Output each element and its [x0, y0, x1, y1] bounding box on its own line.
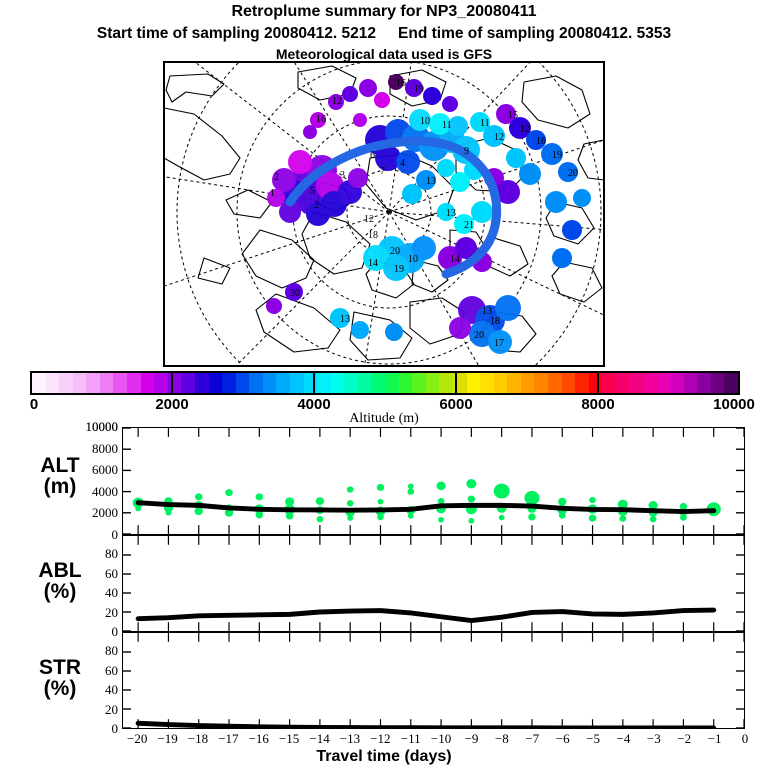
colorbar-separator [597, 371, 599, 395]
colorbar-swatch [602, 373, 616, 393]
svg-text:2: 2 [274, 172, 279, 183]
colorbar-swatch [263, 373, 277, 393]
colorbar-swatch [629, 373, 643, 393]
svg-text:12: 12 [520, 124, 530, 135]
alt-bubble [317, 516, 324, 522]
xtick-label: −6 [556, 731, 570, 747]
svg-text:14: 14 [368, 258, 378, 269]
xtick-label: −9 [465, 731, 479, 747]
alt-bubble [408, 484, 414, 489]
ytick-label: 20 [105, 605, 118, 621]
colorbar-swatch [412, 373, 426, 393]
retroplume-summary-figure: Retroplume summary for NP3_20080411 Star… [0, 0, 768, 768]
alt-bubble [499, 515, 505, 520]
colorbar-swatch [534, 373, 548, 393]
colorbar-swatch [371, 373, 385, 393]
svg-text:13: 13 [340, 314, 350, 325]
colorbar-swatch [657, 373, 671, 393]
abl-line [138, 610, 714, 620]
alt-bubble [377, 514, 384, 520]
colorbar-swatch [290, 373, 304, 393]
svg-text:16: 16 [536, 136, 546, 147]
svg-text:7: 7 [380, 166, 385, 177]
xtick-label: −2 [677, 731, 691, 747]
xtick-label: −10 [431, 731, 451, 747]
alt-panel [122, 427, 745, 535]
colorbar-swatch [697, 373, 711, 393]
ytick-label: 8000 [92, 441, 118, 457]
alt-bubble [286, 512, 294, 519]
xtick-label: −17 [218, 731, 238, 747]
colorbar-swatch [480, 373, 494, 393]
xtick-label: −15 [279, 731, 299, 747]
ytick-label: 20 [105, 702, 118, 718]
colorbar-swatch [643, 373, 657, 393]
retroplume-map: 2 1 5 2 3 6 7 4 12 16 16 19 12 18 14 10 [163, 61, 605, 367]
colorbar-swatch [467, 373, 481, 393]
colorbar-swatch [670, 373, 684, 393]
met-data-label: Meteorological data used is GFS [0, 46, 768, 62]
str-axis-label: STR (%) [6, 657, 114, 700]
abl-panel [122, 535, 745, 632]
xtick-label: −19 [157, 731, 177, 747]
alt-bubble [347, 486, 354, 492]
svg-text:19: 19 [394, 264, 404, 275]
svg-text:10: 10 [408, 254, 418, 265]
ytick-label: 80 [105, 643, 118, 659]
colorbar-swatch [684, 373, 698, 393]
svg-text:10: 10 [420, 116, 430, 127]
xaxis-tick-labels: −20−19−18−17−16−15−14−13−12−11−10−9−8−7−… [0, 731, 768, 749]
colorbar-swatch [249, 373, 263, 393]
alt-bubble [316, 497, 324, 505]
colorbar-swatch [494, 373, 508, 393]
alt-plot [123, 428, 744, 534]
colorbar-swatch [548, 373, 562, 393]
colorbar-swatch [589, 373, 603, 393]
alt-bubble [589, 515, 597, 522]
colorbar-swatch [562, 373, 576, 393]
colorbar-swatch [222, 373, 236, 393]
svg-text:16: 16 [396, 78, 406, 89]
colorbar-swatch [46, 373, 60, 393]
svg-text:1: 1 [270, 188, 275, 199]
xtick-label: −18 [188, 731, 208, 747]
colorbar-separator [313, 371, 315, 395]
alt-bubble [589, 497, 596, 503]
alt-bubble [166, 510, 172, 515]
alt-bubble [468, 518, 474, 523]
alt-bubble [195, 507, 203, 515]
colorbar-swatch [616, 373, 630, 393]
colorbar-swatch [181, 373, 195, 393]
svg-text:4: 4 [400, 158, 405, 169]
ytick-label: 40 [105, 682, 118, 698]
sampling-time-row: Start time of sampling 20080412. 5212End… [0, 25, 768, 43]
xtick-label: −5 [586, 731, 600, 747]
xtick-label: 0 [742, 731, 749, 747]
colorbar-swatch [100, 373, 114, 393]
xtick-label: −16 [249, 731, 269, 747]
colorbar-swatch [399, 373, 413, 393]
svg-text:15: 15 [508, 110, 518, 121]
colorbar-swatch [86, 373, 100, 393]
svg-text:14: 14 [450, 254, 460, 265]
xtick-label: −14 [309, 731, 329, 747]
alt-bubble [438, 517, 444, 522]
alt-bubble [135, 506, 141, 511]
alt-bubble [619, 515, 626, 521]
svg-text:30: 30 [290, 288, 300, 299]
colorbar-swatch [711, 373, 725, 393]
alt-bubble [407, 488, 414, 494]
svg-text:3: 3 [340, 170, 345, 181]
alt-bubble [494, 484, 510, 499]
colorbar-swatch [724, 373, 738, 393]
colorbar-swatch [331, 373, 345, 393]
colorbar-swatch [358, 373, 372, 393]
colorbar-swatch [127, 373, 141, 393]
end-time-label: End time of sampling 20080412. 5353 [398, 25, 671, 42]
svg-text:12: 12 [494, 132, 504, 143]
str-plot [123, 633, 744, 728]
colorbar-swatch [168, 373, 182, 393]
str-panel [122, 632, 745, 729]
svg-text:11: 11 [480, 118, 490, 129]
alt-bubble [524, 491, 539, 505]
colorbar-swatch [385, 373, 399, 393]
ytick-label: 60 [105, 663, 118, 679]
alt-bubble [347, 515, 353, 520]
start-time-label: Start time of sampling 20080412. 5212 [97, 25, 376, 42]
svg-text:21: 21 [464, 220, 474, 231]
alt-bubble [466, 479, 476, 488]
colorbar-swatch [344, 373, 358, 393]
colorbar-swatch [32, 373, 46, 393]
svg-text:17: 17 [494, 338, 504, 349]
alt-bubble [558, 498, 566, 506]
ytick-label: 10000 [86, 419, 119, 435]
svg-text:18: 18 [490, 316, 500, 327]
map-canvas: 2 1 5 2 3 6 7 4 12 16 16 19 12 18 14 10 [164, 62, 604, 366]
colorbar-swatch [439, 373, 453, 393]
svg-text:19: 19 [552, 150, 562, 161]
ytick-label: 2000 [92, 505, 118, 521]
ytick-label: 40 [105, 585, 118, 601]
alt-bubble [347, 500, 354, 506]
alt-bubble [559, 512, 566, 518]
svg-text:2: 2 [314, 200, 319, 211]
xtick-label: −7 [525, 731, 539, 747]
xaxis-title: Travel time (days) [0, 748, 768, 766]
alt-bubble [408, 513, 414, 518]
colorbar-swatch [195, 373, 209, 393]
alt-bubble [680, 514, 687, 520]
colorbar-swatch [426, 373, 440, 393]
xtick-label: −20 [127, 731, 147, 747]
ytick-label: 6000 [92, 462, 118, 478]
abl-plot [123, 536, 744, 631]
colorbar-swatch [73, 373, 87, 393]
svg-text:20: 20 [474, 330, 484, 341]
svg-text:20: 20 [568, 168, 578, 179]
alt-bubble [468, 495, 476, 502]
xtick-label: −4 [617, 731, 631, 747]
colorbar-swatch [304, 373, 318, 393]
colorbar-swatch [154, 373, 168, 393]
svg-text:18: 18 [368, 230, 378, 241]
svg-text:9: 9 [464, 146, 469, 157]
xtick-label: −8 [495, 731, 509, 747]
colorbar-separator [455, 371, 457, 395]
svg-text:13: 13 [426, 176, 436, 187]
svg-text:19: 19 [414, 84, 424, 95]
colorbar-gradient [30, 371, 740, 395]
alt-bubble [650, 516, 657, 522]
colorbar-swatch [276, 373, 290, 393]
colorbar-swatch [521, 373, 535, 393]
ytick-label: 0 [112, 624, 119, 640]
svg-text:16: 16 [316, 114, 326, 125]
altitude-colorbar [30, 371, 740, 395]
ytick-label: 4000 [92, 484, 118, 500]
svg-text:12: 12 [364, 214, 374, 225]
ytick-label: 60 [105, 566, 118, 582]
svg-text:11: 11 [442, 120, 452, 131]
alt-bubble [378, 499, 384, 504]
page-title: Retroplume summary for NP3_20080411 [0, 3, 768, 21]
ytick-label: 80 [105, 546, 118, 562]
alt-bubble [436, 481, 445, 490]
xtick-label: −12 [370, 731, 390, 747]
colorbar-swatch [317, 373, 331, 393]
xtick-label: −11 [401, 731, 421, 747]
colorbar-swatch [113, 373, 127, 393]
colorbar-swatch [59, 373, 73, 393]
alt-bubble [256, 493, 264, 500]
colorbar-swatch [236, 373, 250, 393]
svg-text:20: 20 [390, 246, 400, 257]
abl-axis-label: ABL (%) [6, 560, 114, 603]
str-line [138, 723, 714, 728]
ytick-label: 0 [112, 527, 119, 543]
colorbar-swatch [575, 373, 589, 393]
svg-text:13: 13 [446, 208, 456, 219]
svg-text:6: 6 [370, 150, 375, 161]
xtick-label: −3 [647, 731, 661, 747]
svg-text:12: 12 [332, 96, 342, 107]
alt-bubble [195, 493, 203, 500]
colorbar-swatch [507, 373, 521, 393]
colorbar-swatch [141, 373, 155, 393]
alt-bubble [225, 489, 233, 496]
alt-bubble [256, 511, 264, 518]
xtick-label: −13 [340, 731, 360, 747]
alt-bubble [377, 484, 385, 491]
svg-text:5: 5 [310, 186, 315, 197]
alt-bubble [528, 514, 536, 521]
xtick-label: −1 [708, 731, 722, 747]
colorbar-separator [171, 371, 173, 395]
colorbar-swatch [209, 373, 223, 393]
